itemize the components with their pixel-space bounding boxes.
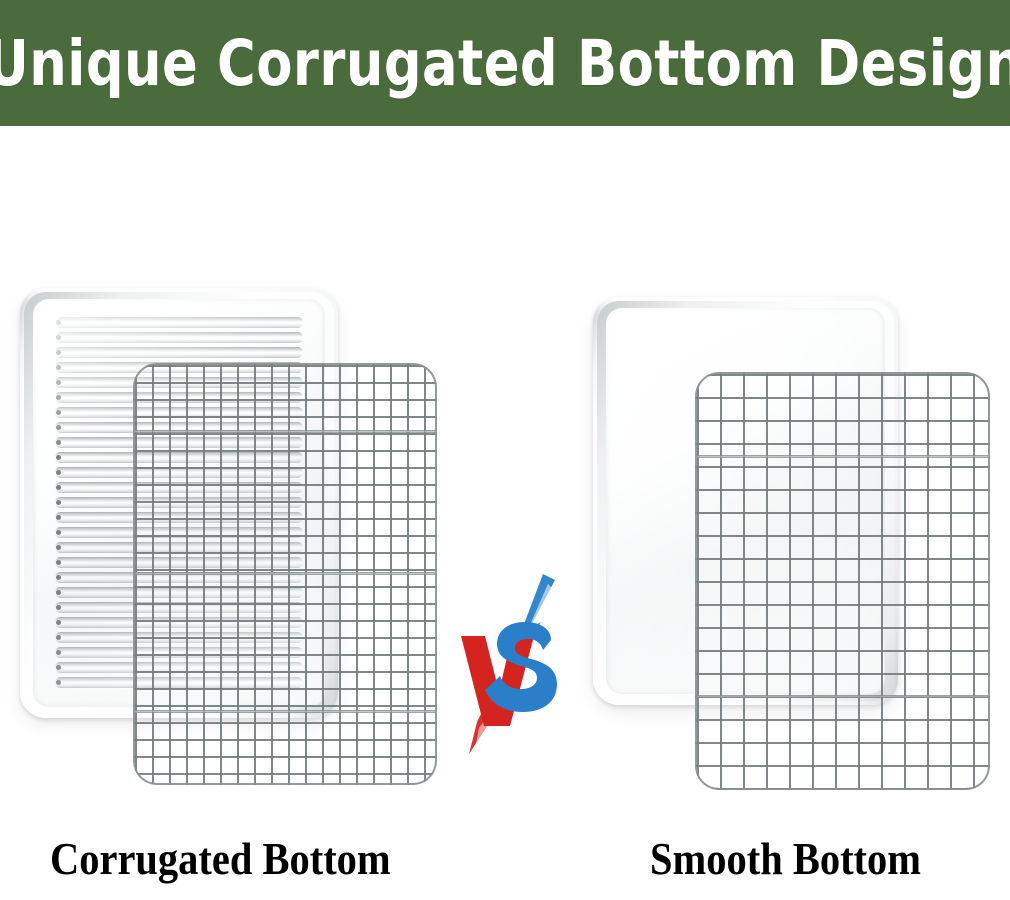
rack-wire-grid-right bbox=[695, 372, 990, 790]
rack-support-bar bbox=[135, 572, 435, 575]
corrugated-ridge bbox=[55, 332, 303, 343]
corrugated-ridge bbox=[55, 347, 303, 358]
rack-support-bar bbox=[135, 710, 435, 713]
rack-support-bar bbox=[135, 430, 435, 433]
versus-lightning-icon bbox=[455, 566, 565, 756]
cooling-rack-right bbox=[695, 372, 990, 790]
cooling-rack-left bbox=[133, 363, 437, 785]
corrugated-ridge bbox=[55, 317, 303, 328]
caption-smooth-bottom: Smooth Bottom bbox=[650, 836, 921, 882]
comparison-stage bbox=[0, 126, 1010, 900]
header-banner: Unique Corrugated Bottom Design bbox=[0, 0, 1010, 126]
page-title: Unique Corrugated Bottom Design bbox=[0, 32, 1010, 95]
product-comparison-image: Unique Corrugated Bottom Design bbox=[0, 0, 1010, 900]
caption-corrugated-bottom: Corrugated Bottom bbox=[50, 836, 391, 882]
rack-support-bar bbox=[697, 455, 988, 458]
rack-support-bar bbox=[697, 695, 988, 698]
